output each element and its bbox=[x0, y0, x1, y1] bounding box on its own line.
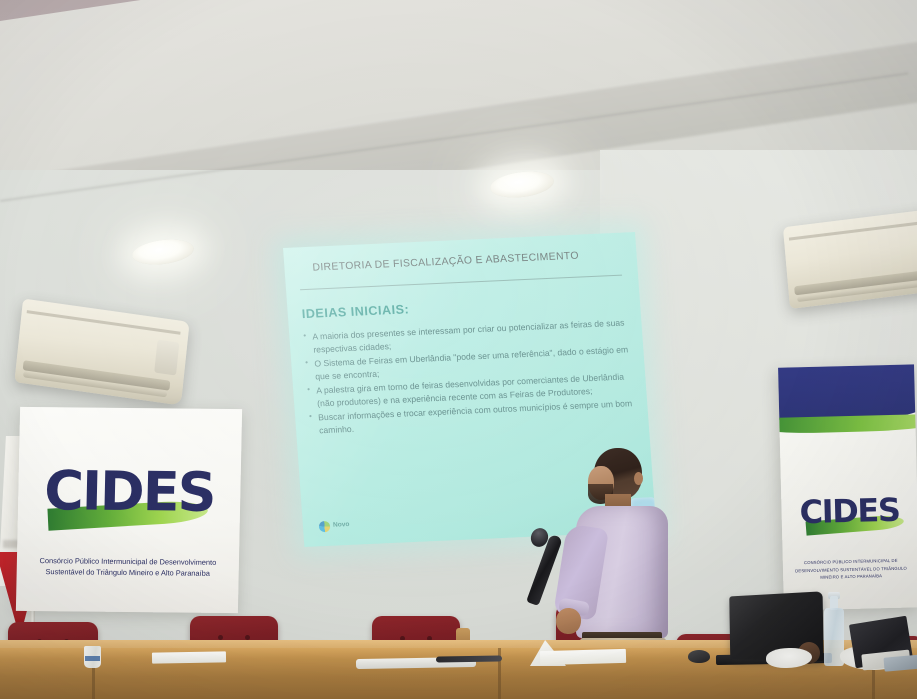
presentation-room-scene: DIRETORIA DE FISCALIZAÇÃO E ABASTECIMENT… bbox=[0, 0, 917, 699]
loose-papers bbox=[152, 651, 226, 663]
loose-papers bbox=[540, 649, 626, 665]
presenter-ear bbox=[634, 472, 643, 485]
ac-top-line bbox=[788, 221, 917, 241]
novo-agro-logo: Novo bbox=[319, 520, 350, 532]
novo-agro-logo-label: Novo bbox=[333, 522, 350, 529]
pens bbox=[436, 655, 502, 662]
slide-title: DIRETORIA DE FISCALIZAÇÃO E ABASTECIMENT… bbox=[312, 248, 627, 273]
cides-wordmark: CIDES bbox=[44, 459, 216, 524]
banner-navy-header bbox=[778, 364, 917, 422]
cup-band bbox=[85, 656, 100, 661]
banner-green-stripe bbox=[778, 414, 917, 434]
cides-banner-right: CIDES CONSÓRCIO PÚBLICO INTERMUNICIPAL D… bbox=[778, 364, 917, 610]
cides-tagline: CONSÓRCIO PÚBLICO INTERMUNICIPAL DE DESE… bbox=[793, 557, 910, 583]
cides-banner-left: CIDES Consórcio Público Intermunicipal d… bbox=[16, 407, 242, 613]
cides-wordmark: CIDES bbox=[799, 491, 900, 531]
ac-display-panel bbox=[154, 339, 179, 375]
slide-title-divider bbox=[300, 275, 622, 291]
computer-mouse bbox=[688, 650, 710, 663]
ac-unit-right bbox=[783, 209, 917, 309]
slide-bullet-list: A maioria dos presentes se interessam po… bbox=[303, 316, 637, 439]
slide-subtitle: IDEIAS INICIAIS: bbox=[301, 302, 409, 321]
tablet-device bbox=[883, 654, 917, 671]
novo-agro-mark-icon bbox=[319, 521, 331, 532]
cides-tagline: Consórcio Público Intermunicipal de Dese… bbox=[27, 555, 229, 580]
